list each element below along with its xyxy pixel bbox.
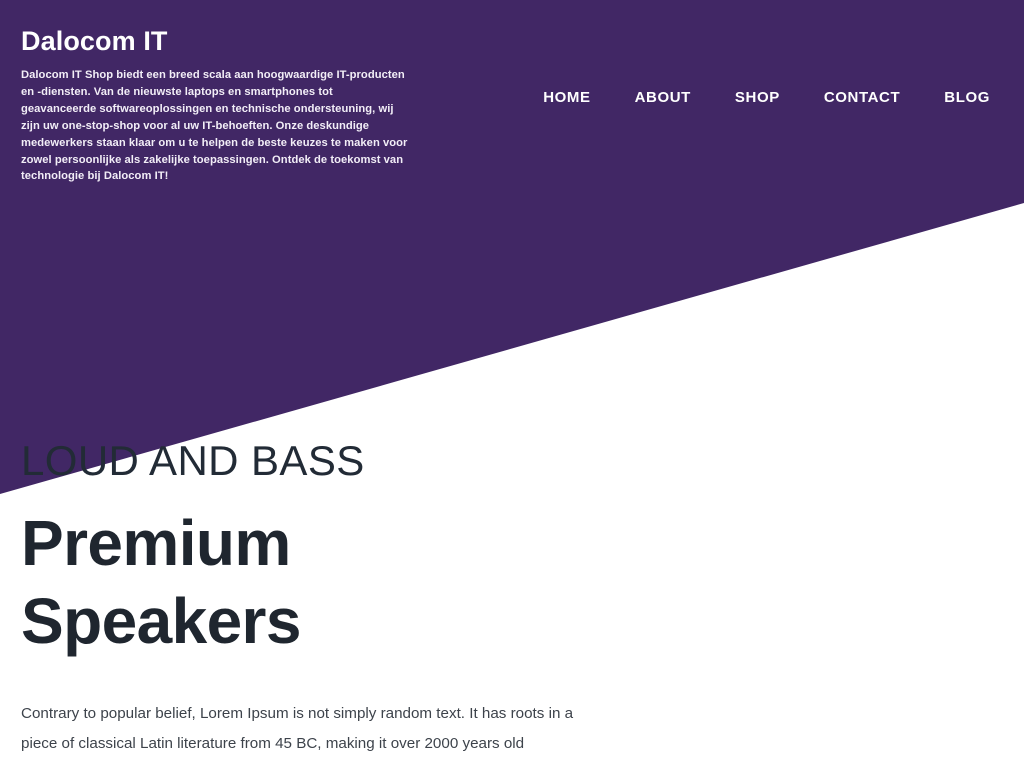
brand-description: Dalocom IT Shop biedt een breed scala aa… [21,67,411,185]
nav-item-blog[interactable]: BLOG [922,86,990,110]
nav-item-about[interactable]: ABOUT [613,86,713,110]
nav-item-shop[interactable]: SHOP [713,86,802,110]
hero-eyebrow: LOUD AND BASS [21,432,641,490]
nav-item-contact[interactable]: CONTACT [802,86,922,110]
site-logo-text[interactable]: Dalocom IT [21,24,411,58]
nav-item-home[interactable]: HOME [521,86,612,110]
brand-block: Dalocom IT Dalocom IT Shop biedt een bre… [21,24,411,185]
hero-section: LOUD AND BASS Premium Speakers Contrary … [21,432,641,759]
main-navigation: HOME ABOUT SHOP CONTACT BLOG [521,86,990,110]
hero-title: Premium Speakers [21,504,441,660]
site-header: Dalocom IT Dalocom IT Shop biedt een bre… [0,0,1024,200]
page-root: Dalocom IT Dalocom IT Shop biedt een bre… [0,0,1024,768]
hero-paragraph: Contrary to popular belief, Lorem Ipsum … [21,699,607,759]
